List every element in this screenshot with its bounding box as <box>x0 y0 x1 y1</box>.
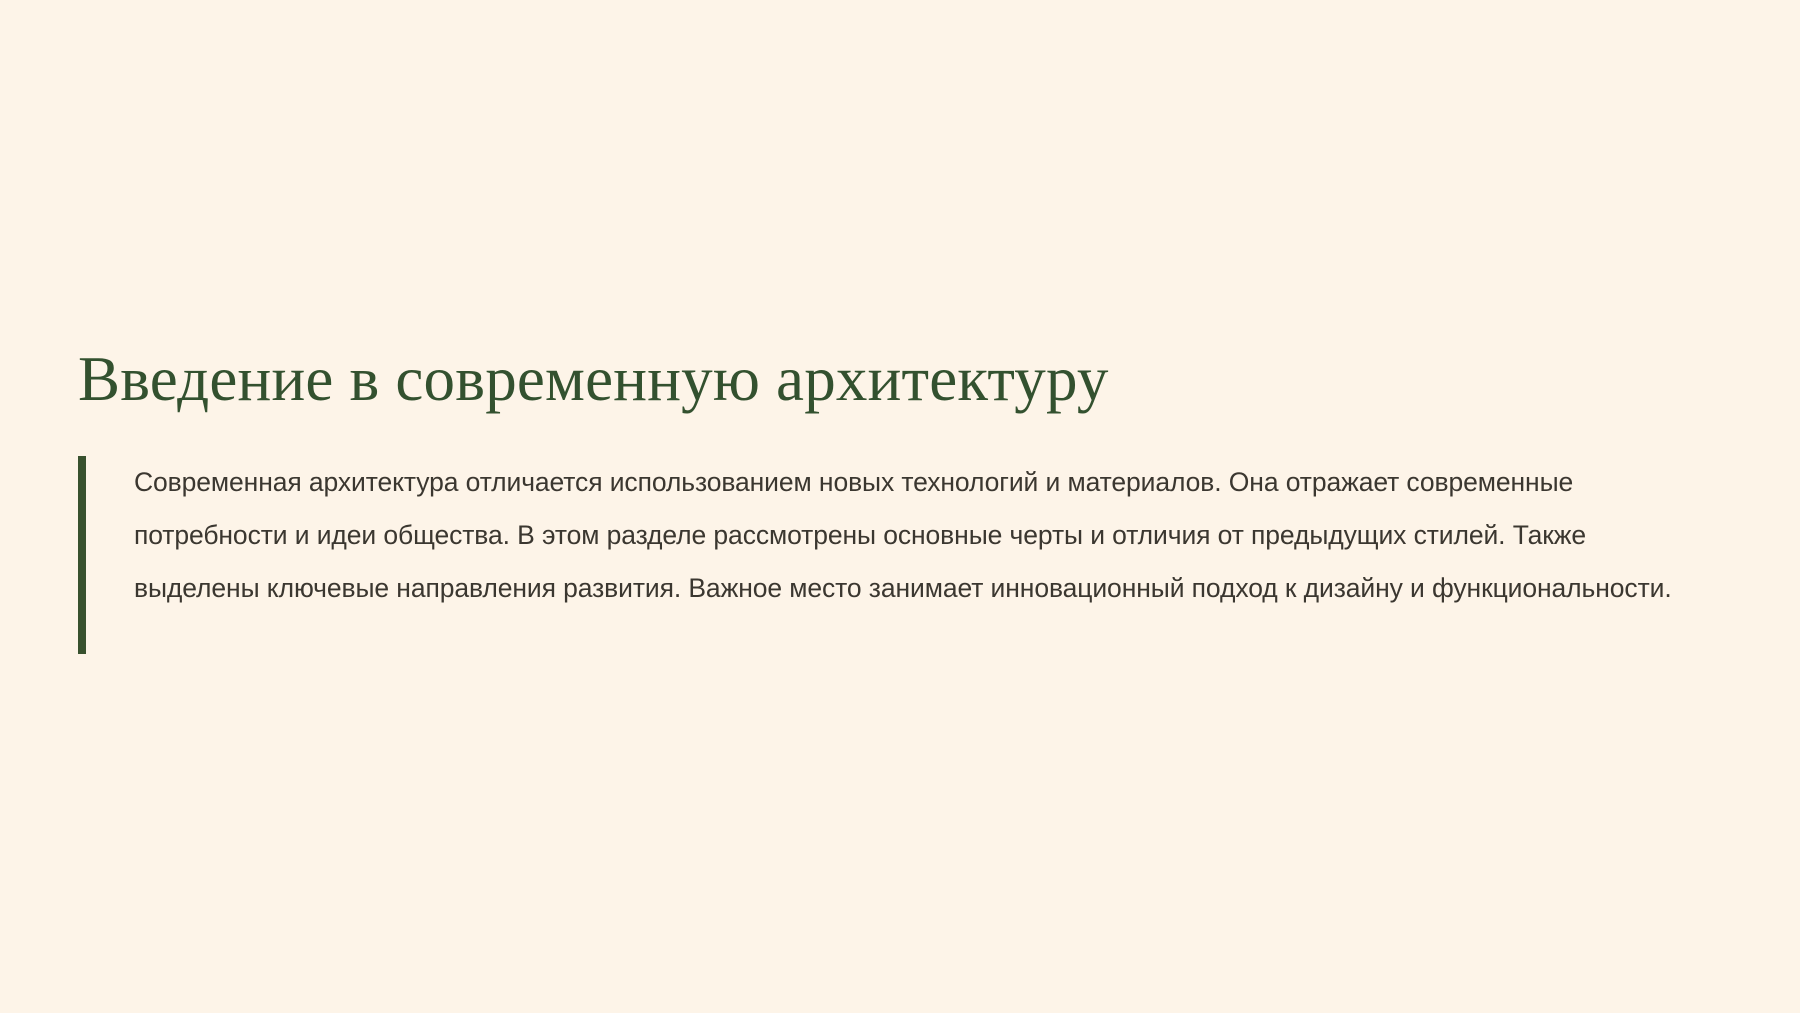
page-title: Введение в современную архитектуру <box>78 344 1718 415</box>
slide-canvas: Введение в современную архитектуру Совре… <box>0 0 1800 1013</box>
accent-bar <box>78 456 86 654</box>
body-callout-block: Современная архитектура отличается испол… <box>78 456 1718 654</box>
slide-content: Введение в современную архитектуру Совре… <box>78 344 1718 654</box>
body-paragraph: Современная архитектура отличается испол… <box>134 456 1679 615</box>
